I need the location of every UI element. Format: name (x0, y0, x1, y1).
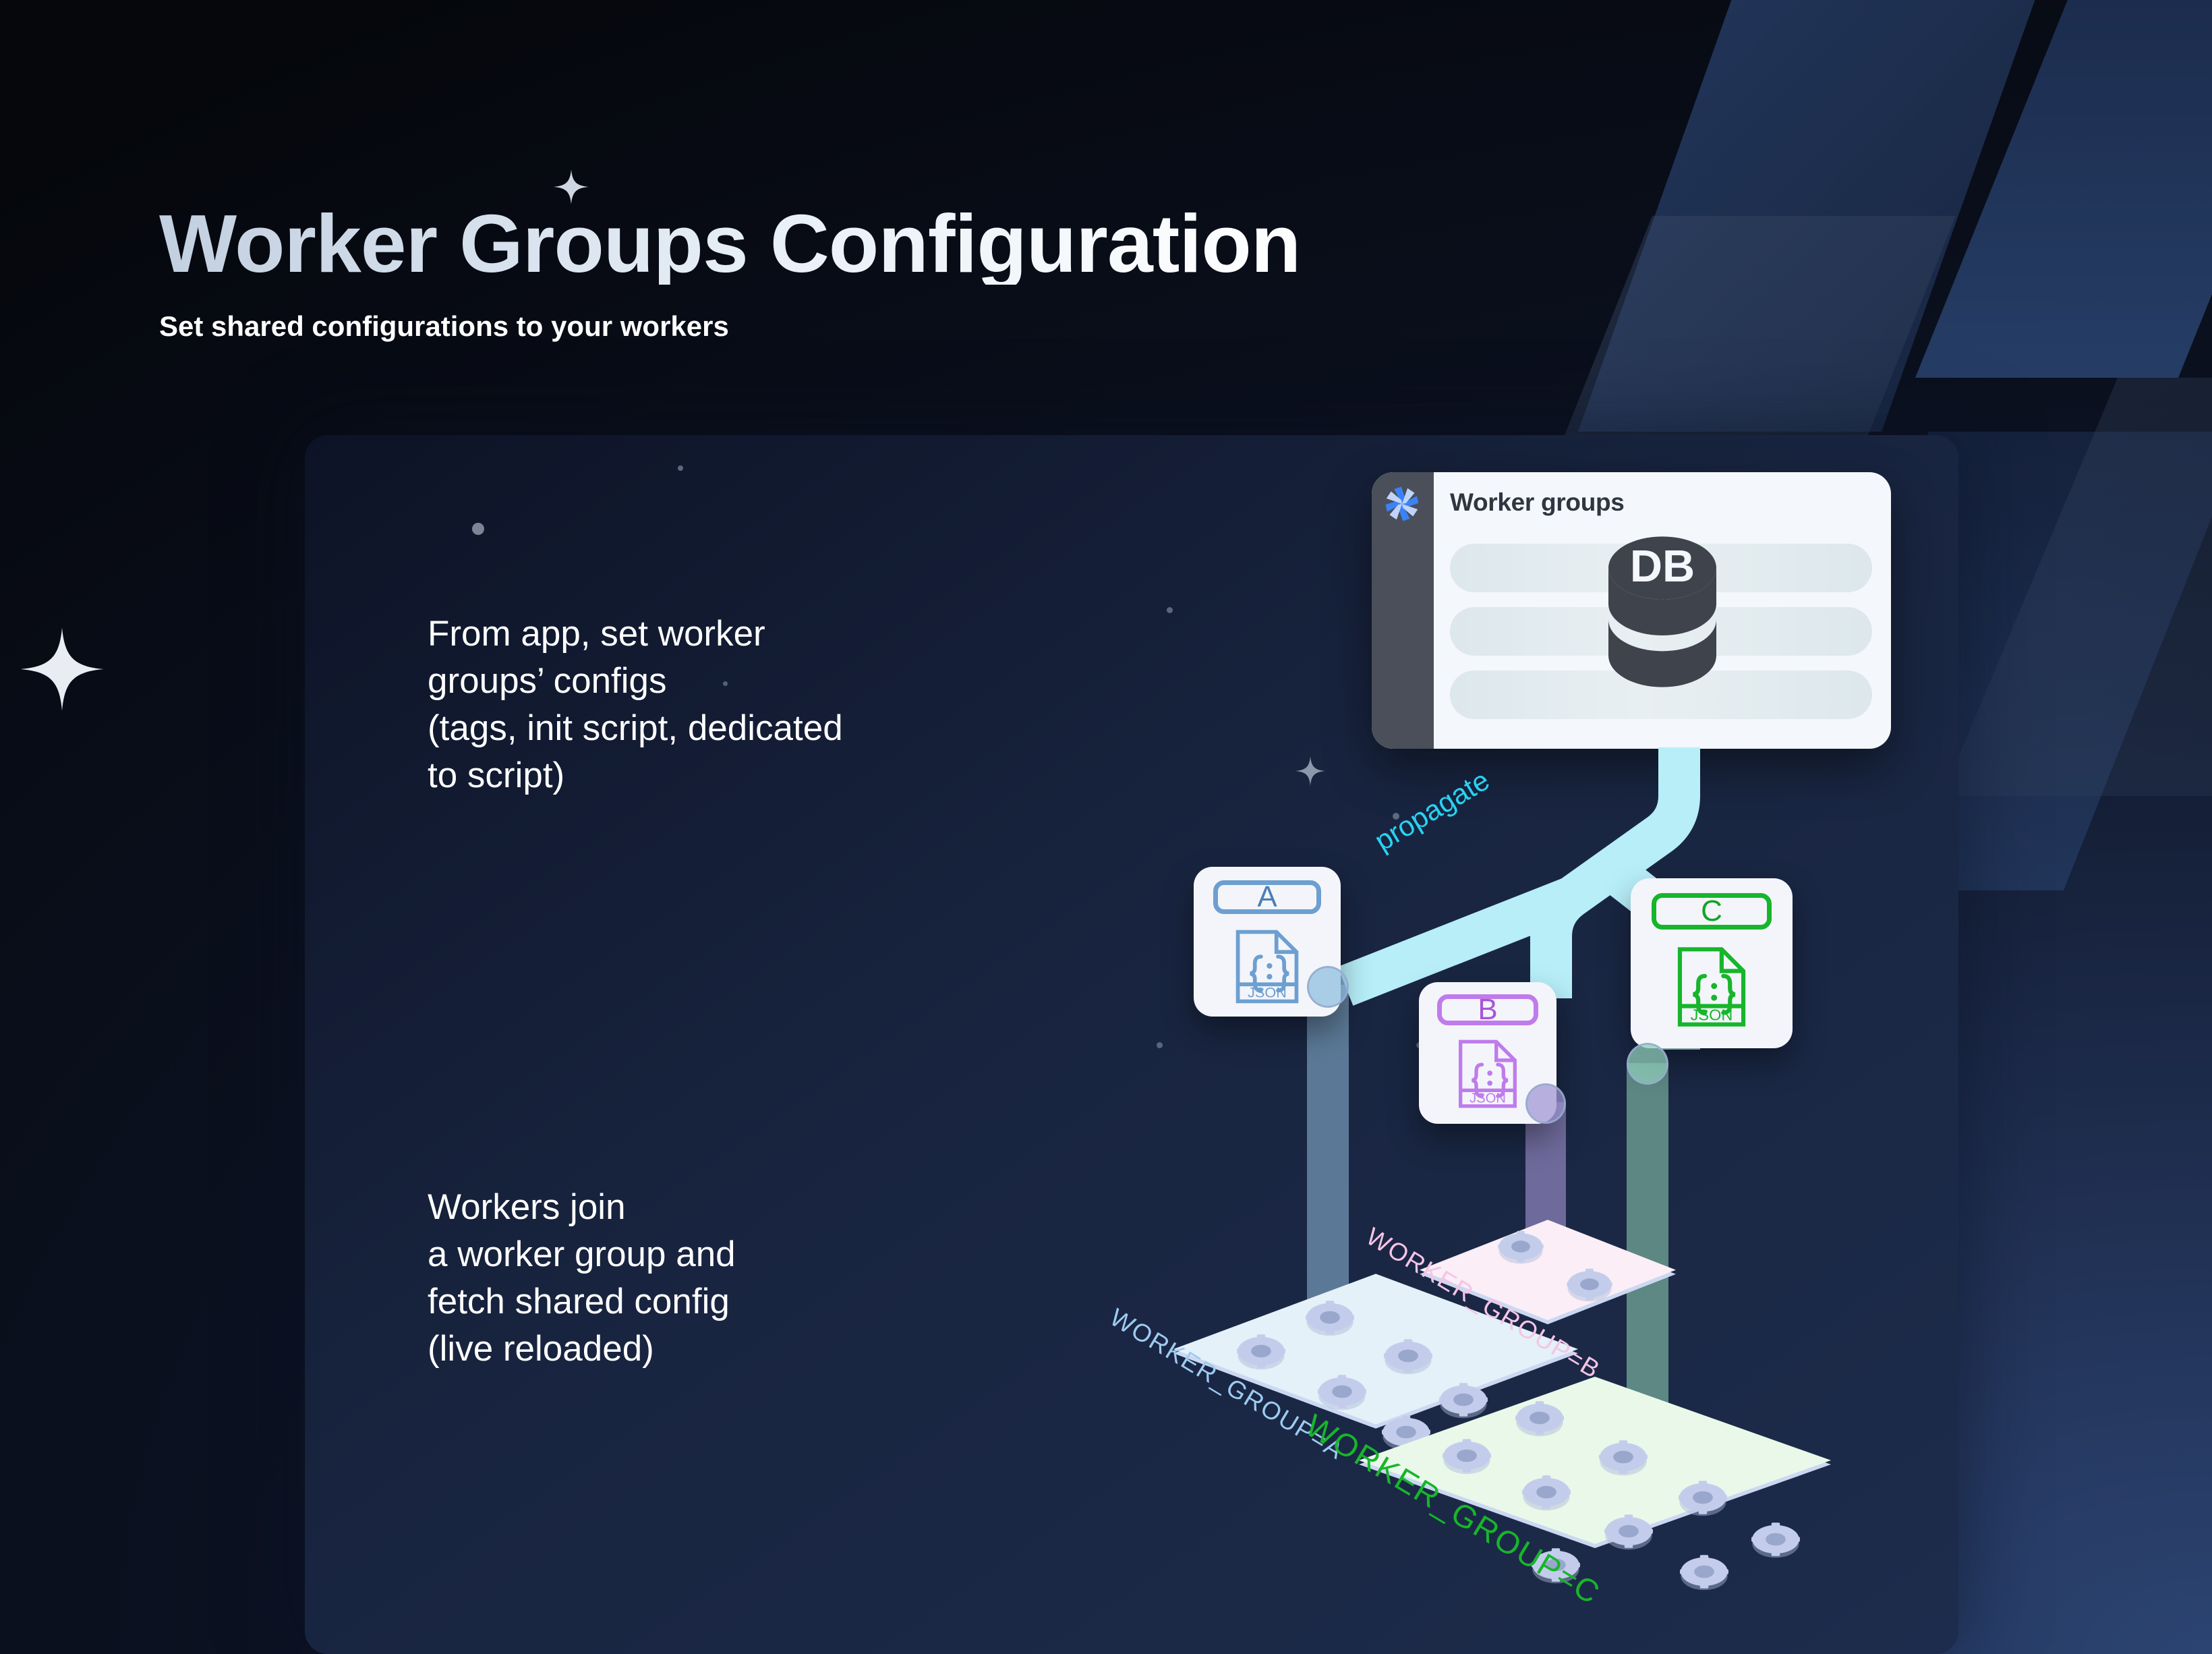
page-title: Worker Groups Configuration (159, 202, 1300, 285)
group-card-c[interactable]: C JSON (1631, 878, 1793, 1048)
header: Worker Groups Configuration Set shared c… (159, 202, 1300, 343)
sparkle-icon (1295, 755, 1326, 787)
star-dot (1157, 1042, 1163, 1048)
json-file-label: JSON (1469, 1091, 1506, 1106)
json-file-icon: JSON (1677, 946, 1747, 1028)
json-file-icon: JSON (1235, 929, 1300, 1004)
description-text-app-config: From app, set worker groups’ configs (ta… (428, 610, 843, 799)
connector-knob-b (1525, 1083, 1566, 1124)
connector-knob-c (1627, 1043, 1668, 1085)
star-dot (678, 465, 683, 471)
star-dot (1167, 607, 1173, 613)
json-file-label: JSON (1248, 984, 1287, 1001)
app-sidebar-rail (1372, 472, 1434, 749)
worker-groups-card-body: Worker groups DB (1434, 472, 1891, 749)
db-icon-label: DB (1630, 542, 1695, 592)
group-card-a-label: A (1213, 880, 1321, 914)
json-file-icon: JSON (1457, 1039, 1518, 1109)
database-icon: DB (1595, 534, 1730, 703)
group-card-c-label: C (1652, 893, 1772, 930)
windmill-pinwheel-icon (1382, 484, 1422, 523)
json-file-label: JSON (1691, 1006, 1733, 1024)
group-card-b-label: B (1437, 994, 1538, 1025)
worker-groups-card[interactable]: Worker groups DB (1372, 472, 1891, 749)
description-text-workers-join: Workers join a worker group and fetch sh… (428, 1184, 736, 1373)
star-dot (472, 523, 484, 535)
slide-canvas: Worker Groups Configuration Set shared c… (0, 0, 2212, 1654)
page-subtitle: Set shared configurations to your worker… (159, 310, 1300, 343)
worker-groups-title: Worker groups (1450, 488, 1868, 517)
connector-knob-a (1307, 966, 1349, 1008)
sparkle-icon (19, 626, 105, 712)
